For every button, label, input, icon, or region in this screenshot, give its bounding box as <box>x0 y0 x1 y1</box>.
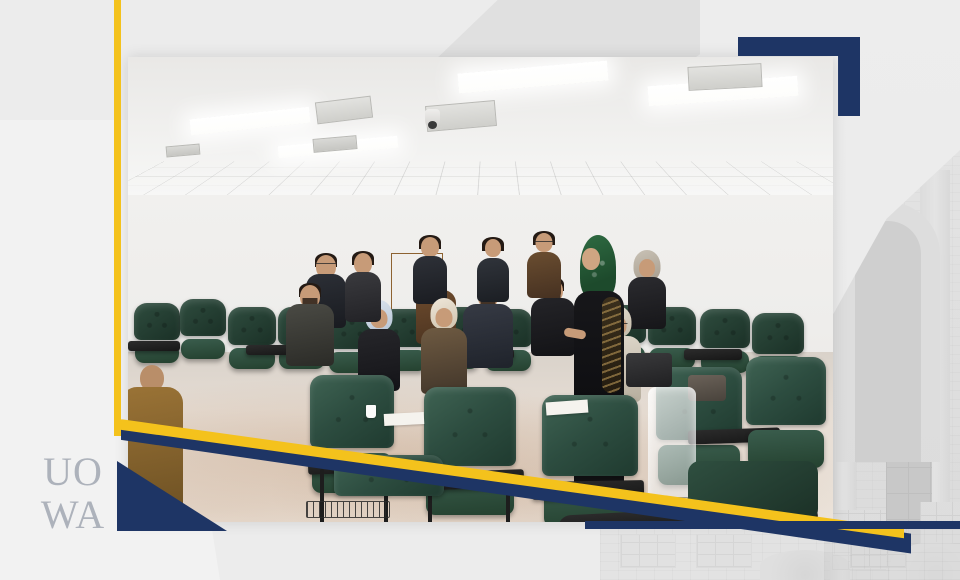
ceiling-tile-grid <box>128 162 833 195</box>
torso <box>527 252 561 298</box>
ac-vent <box>315 96 373 125</box>
presenter-embroidered-sleeve <box>602 297 621 393</box>
chair <box>746 357 826 475</box>
torso <box>421 328 467 394</box>
head <box>639 259 655 277</box>
paper-cup <box>366 405 376 418</box>
watermark-shrub <box>760 550 850 580</box>
chair-back <box>310 375 394 448</box>
eyeglasses <box>317 263 336 268</box>
presenter-face <box>582 248 600 270</box>
handbag <box>626 353 672 387</box>
ceiling-light-panel <box>189 107 310 135</box>
chair <box>134 303 180 367</box>
torso <box>286 304 334 366</box>
head <box>436 308 453 327</box>
head <box>421 237 439 257</box>
watermark-window <box>620 534 676 568</box>
navy-horizontal-rule <box>585 521 960 529</box>
torso <box>477 258 509 302</box>
head <box>485 239 501 257</box>
torso <box>345 272 381 322</box>
audience-member <box>288 285 332 381</box>
eyeglasses <box>535 241 554 246</box>
head <box>354 253 372 274</box>
logo-line-1: UO <box>30 452 116 492</box>
security-camera <box>425 109 440 130</box>
audience-member <box>476 239 510 307</box>
audience-member <box>344 253 382 329</box>
audience-member <box>526 233 562 303</box>
ac-vent <box>166 144 201 158</box>
chair-tablet-arm <box>684 349 742 360</box>
logo-line-2: WA <box>30 495 116 535</box>
ac-vent <box>687 63 762 91</box>
watermark-window <box>696 534 752 568</box>
chair-back <box>746 357 826 425</box>
torso <box>413 256 447 304</box>
torso <box>463 304 513 368</box>
notebook <box>384 412 425 426</box>
audience-member <box>422 301 466 397</box>
ceiling-light-panel <box>457 61 608 94</box>
chair-tablet-arm <box>128 341 180 351</box>
suspended-ceiling <box>128 57 833 195</box>
chair <box>228 307 276 373</box>
banner-canvas: UO WA <box>0 0 960 580</box>
uowa-logo: UO WA <box>30 452 116 536</box>
chair <box>180 299 226 363</box>
gold-vertical-rule <box>114 0 121 436</box>
